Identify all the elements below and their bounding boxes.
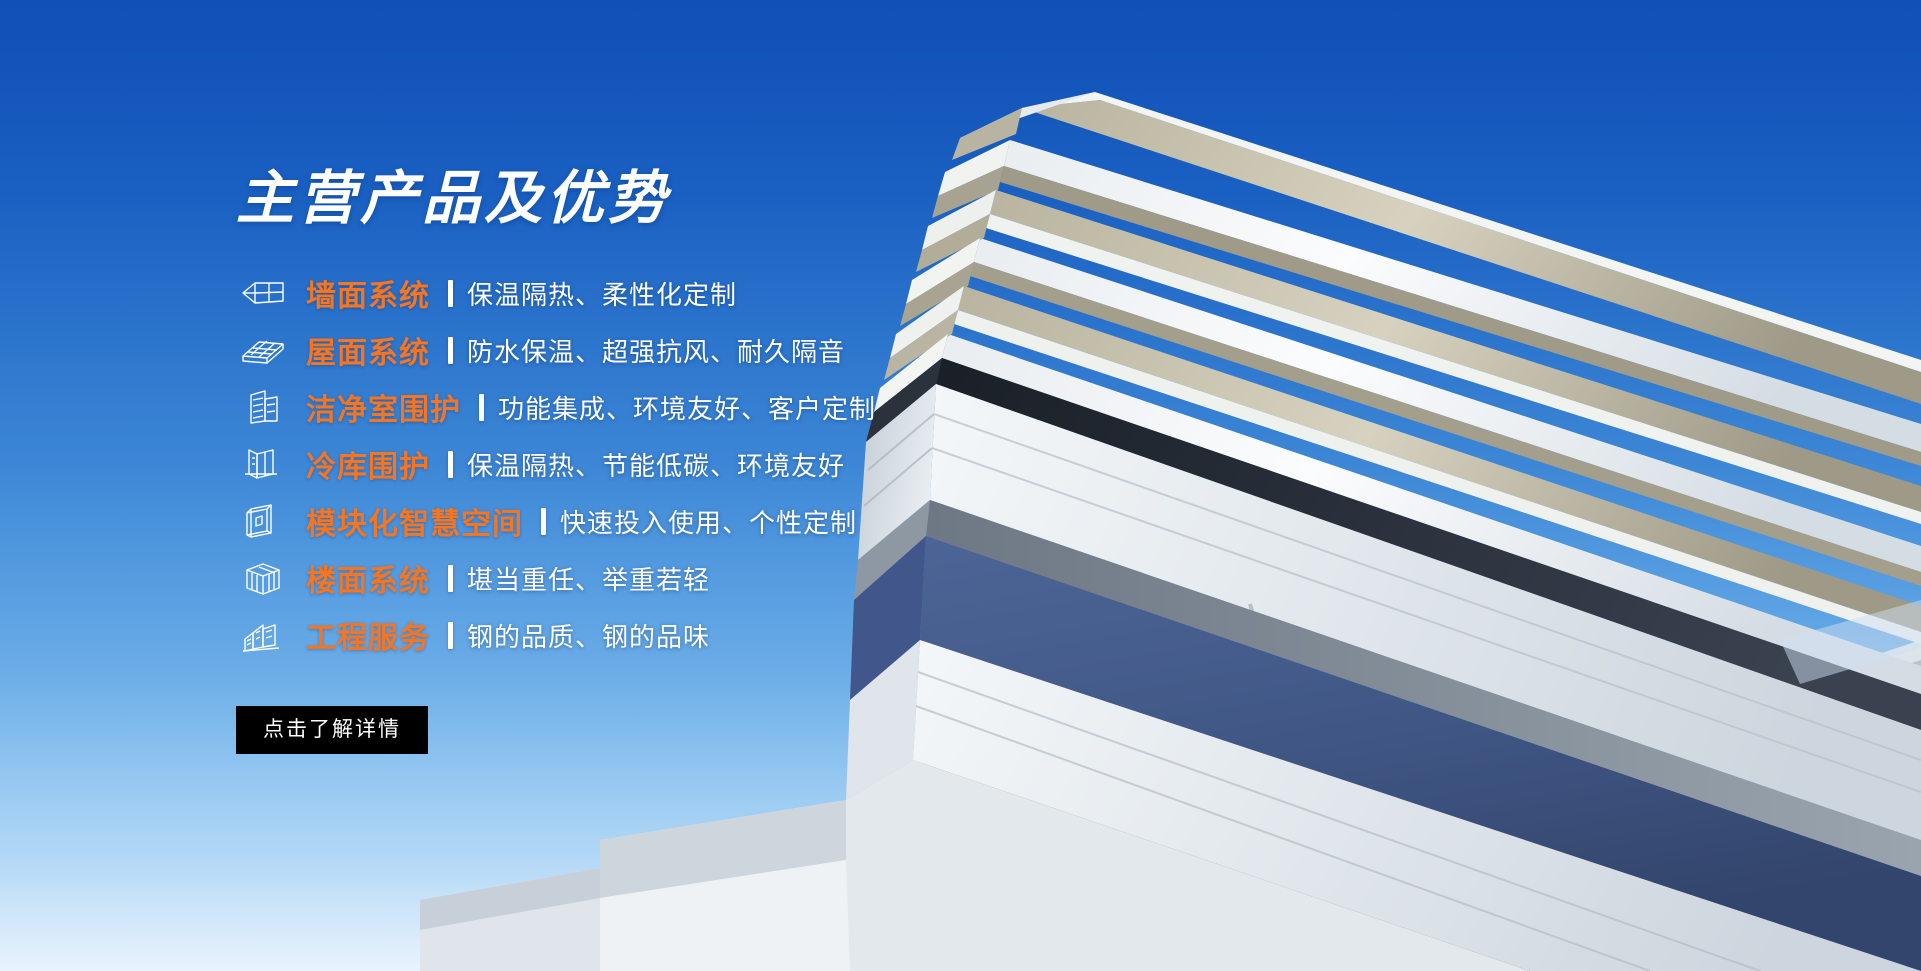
feature-separator [448, 337, 453, 364]
floor-deck-icon [236, 555, 290, 601]
feature-description: 保温隔热、节能低碳、环境友好 [467, 446, 845, 483]
feature-separator [479, 394, 484, 421]
feature-item-cleanroom[interactable]: 洁净室围护 功能集成、环境友好、客户定制 [236, 379, 1336, 436]
hero-banner: 主营产品及优势 墙面系统 保温隔热、柔性化定制 [0, 0, 1921, 971]
feature-title: 屋面系统 [306, 328, 430, 372]
cleanroom-icon [236, 384, 290, 430]
modular-space-icon [236, 498, 290, 544]
feature-separator [448, 280, 453, 307]
cta-wrapper: 点击了解详情 [236, 706, 1336, 754]
feature-title: 冷库围护 [306, 442, 430, 486]
feature-item-roof-system[interactable]: 屋面系统 防水保温、超强抗风、耐久隔音 [236, 322, 1336, 379]
feature-separator [541, 508, 546, 535]
hero-content: 主营产品及优势 墙面系统 保温隔热、柔性化定制 [236, 168, 1336, 754]
roof-panel-icon [236, 327, 290, 373]
engineering-icon [236, 612, 290, 658]
feature-title: 洁净室围护 [306, 385, 461, 429]
feature-separator [448, 565, 453, 592]
feature-separator [448, 451, 453, 478]
feature-title: 墙面系统 [306, 271, 430, 315]
feature-description: 防水保温、超强抗风、耐久隔音 [467, 332, 845, 369]
feature-separator [448, 622, 453, 649]
feature-title: 工程服务 [306, 613, 430, 657]
feature-description: 保温隔热、柔性化定制 [467, 275, 737, 312]
page-title: 主营产品及优势 [236, 168, 1336, 229]
feature-item-engineering-service[interactable]: 工程服务 钢的品质、钢的品味 [236, 607, 1336, 664]
feature-item-wall-system[interactable]: 墙面系统 保温隔热、柔性化定制 [236, 265, 1336, 322]
feature-item-modular-space[interactable]: 模块化智慧空间 快速投入使用、个性定制 [236, 493, 1336, 550]
feature-item-cold-storage[interactable]: 冷库围护 保温隔热、节能低碳、环境友好 [236, 436, 1336, 493]
feature-description: 堪当重任、举重若轻 [467, 560, 710, 597]
feature-description: 快速投入使用、个性定制 [560, 503, 857, 540]
feature-title: 模块化智慧空间 [306, 499, 523, 543]
feature-title: 楼面系统 [306, 556, 430, 600]
learn-more-button[interactable]: 点击了解详情 [236, 706, 428, 754]
feature-item-floor-system[interactable]: 楼面系统 堪当重任、举重若轻 [236, 550, 1336, 607]
feature-description: 钢的品质、钢的品味 [467, 617, 710, 654]
wall-panel-icon [236, 270, 290, 316]
feature-description: 功能集成、环境友好、客户定制 [498, 389, 876, 426]
feature-list: 墙面系统 保温隔热、柔性化定制 屋面系统 [236, 265, 1336, 664]
coldstorage-icon [236, 441, 290, 487]
